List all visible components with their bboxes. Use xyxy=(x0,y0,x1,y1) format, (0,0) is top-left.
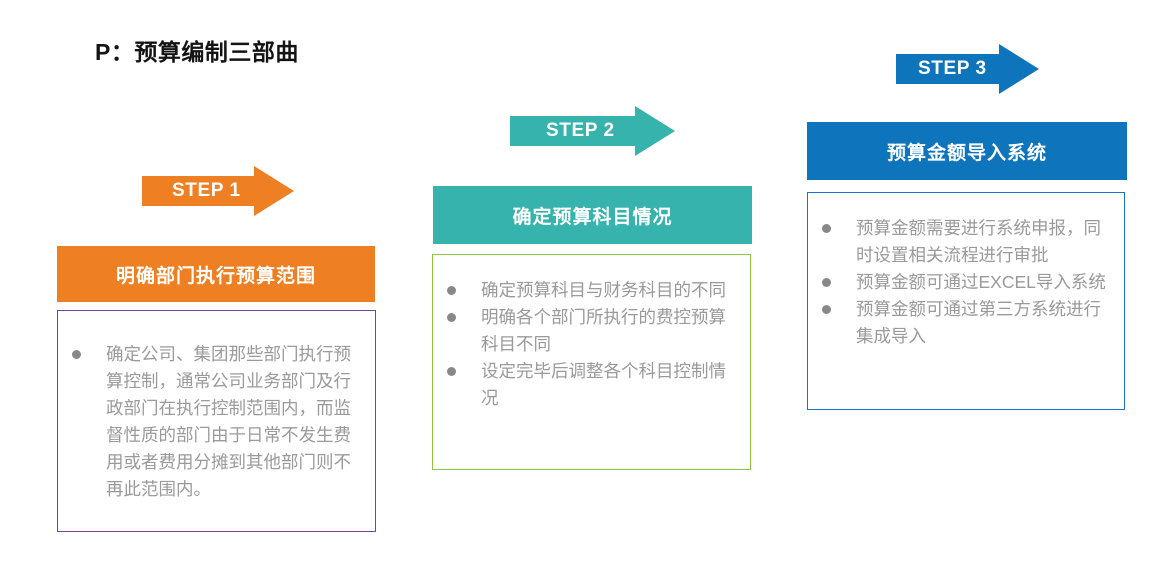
list-item-text: 预算金额可通过第三方系统进行集成导入 xyxy=(856,299,1101,346)
bullet-dot-icon xyxy=(822,305,831,314)
bullet-dot-icon xyxy=(447,367,456,376)
column-3-bullet-list: 预算金额需要进行系统申报，同时设置相关流程进行审批 预算金额可通过EXCEL导入… xyxy=(808,193,1124,350)
list-item-text: 预算金额可通过EXCEL导入系统 xyxy=(856,272,1106,292)
column-2-header: 确定预算科目情况 xyxy=(433,186,752,244)
list-item-text: 预算金额需要进行系统申报，同时设置相关流程进行审批 xyxy=(856,218,1101,265)
bullet-dot-icon xyxy=(822,278,831,287)
list-item-text: 确定预算科目与财务科目的不同 xyxy=(481,280,726,300)
list-item: 明确各个部门所执行的费控预算科目不同 xyxy=(433,304,750,358)
column-2-bullet-list: 确定预算科目与财务科目的不同 明确各个部门所执行的费控预算科目不同 设定完毕后调… xyxy=(433,255,750,412)
list-item-text: 确定公司、集团那些部门执行预算控制，通常公司业务部门及行政部门在执行控制范围内，… xyxy=(106,344,351,499)
list-item-text: 设定完毕后调整各个科目控制情况 xyxy=(481,361,726,408)
column-3-header-text: 预算金额导入系统 xyxy=(887,138,1047,165)
list-item: 预算金额需要进行系统申报，同时设置相关流程进行审批 xyxy=(808,215,1124,269)
column-1-bullet-list: 确定公司、集团那些部门执行预算控制，通常公司业务部门及行政部门在执行控制范围内，… xyxy=(58,311,375,503)
list-item: 确定公司、集团那些部门执行预算控制，通常公司业务部门及行政部门在执行控制范围内，… xyxy=(58,341,375,503)
arrow-right-icon xyxy=(510,106,675,156)
step-2-arrow: STEP 2 xyxy=(510,106,675,156)
column-1-header-text: 明确部门执行预算范围 xyxy=(116,261,316,288)
column-3-body: 预算金额需要进行系统申报，同时设置相关流程进行审批 预算金额可通过EXCEL导入… xyxy=(807,192,1125,410)
bullet-dot-icon xyxy=(447,286,456,295)
list-item-text: 明确各个部门所执行的费控预算科目不同 xyxy=(481,307,726,354)
list-item: 预算金额可通过EXCEL导入系统 xyxy=(808,269,1124,296)
bullet-dot-icon xyxy=(72,350,81,359)
bullet-dot-icon xyxy=(822,224,831,233)
column-1-header: 明确部门执行预算范围 xyxy=(57,246,375,302)
list-item: 预算金额可通过第三方系统进行集成导入 xyxy=(808,296,1124,350)
page-title: P：预算编制三部曲 xyxy=(95,33,299,67)
column-1-body: 确定公司、集团那些部门执行预算控制，通常公司业务部门及行政部门在执行控制范围内，… xyxy=(57,310,376,532)
step-1-arrow: STEP 1 xyxy=(142,166,294,216)
list-item: 确定预算科目与财务科目的不同 xyxy=(433,277,750,304)
bullet-dot-icon xyxy=(447,313,456,322)
column-2-header-text: 确定预算科目情况 xyxy=(512,202,672,229)
arrow-right-icon xyxy=(142,166,294,216)
step-3-arrow: STEP 3 xyxy=(896,44,1039,94)
column-2-body: 确定预算科目与财务科目的不同 明确各个部门所执行的费控预算科目不同 设定完毕后调… xyxy=(432,254,751,470)
column-3-header: 预算金额导入系统 xyxy=(807,122,1127,180)
list-item: 设定完毕后调整各个科目控制情况 xyxy=(433,358,750,412)
arrow-right-icon xyxy=(896,44,1039,94)
